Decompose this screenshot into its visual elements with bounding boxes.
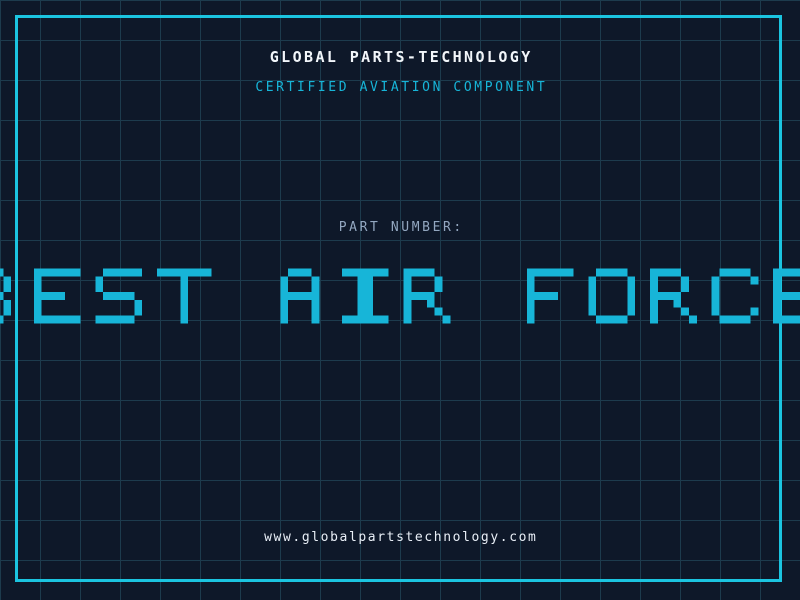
- website-url: www.globalpartstechnology.com: [0, 530, 800, 545]
- part-number-value: [0, 264, 800, 328]
- certification-subtitle: CERTIFIED AVIATION COMPONENT: [0, 80, 800, 95]
- part-number-label: PART NUMBER:: [0, 220, 800, 235]
- blueprint-card: GLOBAL PARTS-TECHNOLOGY CERTIFIED AVIATI…: [0, 0, 800, 600]
- company-name: GLOBAL PARTS-TECHNOLOGY: [0, 48, 800, 66]
- part-number-pixel-text: [0, 264, 800, 328]
